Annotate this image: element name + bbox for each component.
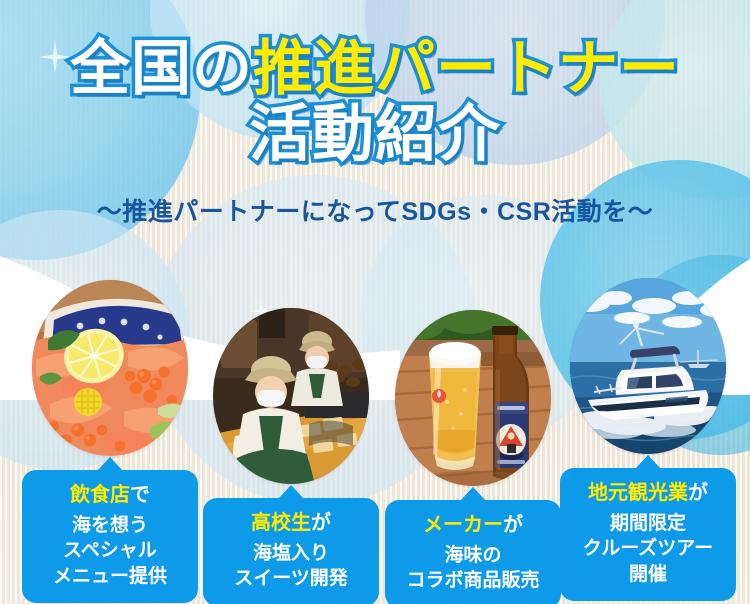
card-2-head-suffix: が	[311, 512, 331, 534]
title-line-1-white: 全国の	[70, 35, 253, 102]
card-2-head: 高校生が	[209, 510, 373, 536]
subtitle: 〜推進パートナーになってSDGs・CSR活動を〜	[0, 192, 750, 228]
seafood-bowl-photo	[32, 280, 188, 456]
card-4-body-line-2: クルーズツアー	[566, 536, 730, 561]
card-2-caption: 高校生が 海塩入り スイーツ開発	[203, 498, 379, 604]
card-4-head-suffix: が	[688, 482, 708, 504]
card-1-body-line-1: 海を想う	[28, 513, 192, 538]
title-line-1-yellow: 推進パートナー	[253, 35, 680, 102]
title-line-2: 活動紹介	[0, 103, 750, 166]
headline-group: 全国の推進パートナー 活動紹介	[0, 0, 750, 166]
card-2-body-line-2: スイーツ開発	[209, 566, 373, 591]
card-4-caption: 地元観光業が 期間限定 クルーズツアー 開催	[560, 468, 736, 601]
card-2-head-highlight: 高校生	[251, 512, 311, 534]
card-2-body-line-1: 海塩入り	[209, 541, 373, 566]
card-2[interactable]: 高校生が 海塩入り スイーツ開発	[203, 308, 379, 604]
card-1[interactable]: 飲食店で 海を想う スペシャル メニュー提供	[22, 280, 198, 603]
card-3[interactable]: メーカーが 海味の コラボ商品販売	[385, 310, 561, 604]
card-4-body: 期間限定 クルーズツアー 開催	[566, 511, 730, 586]
card-3-head-highlight: メーカー	[423, 514, 503, 536]
card-3-body-line-2: コラボ商品販売	[391, 568, 555, 593]
card-1-caption: 飲食店で 海を想う スペシャル メニュー提供	[22, 470, 198, 603]
card-1-body-line-2: スペシャル	[28, 538, 192, 563]
title-line-2-white: 活動紹介	[249, 100, 501, 169]
card-1-head: 飲食店で	[28, 482, 192, 508]
card-3-body: 海味の コラボ商品販売	[391, 543, 555, 593]
card-1-body: 海を想う スペシャル メニュー提供	[28, 513, 192, 588]
card-3-caption: メーカーが 海味の コラボ商品販売	[385, 500, 561, 604]
cruiser-boat-photo	[570, 278, 726, 454]
card-2-body: 海塩入り スイーツ開発	[209, 541, 373, 591]
card-3-head-suffix: が	[503, 514, 523, 536]
promotional-banner: 全国の推進パートナー 活動紹介 〜推進パートナーになってSDGs・CSR活動を〜	[0, 0, 750, 604]
card-3-body-line-1: 海味の	[391, 543, 555, 568]
cards-row: 飲食店で 海を想う スペシャル メニュー提供	[0, 278, 750, 604]
card-4-body-line-3: 開催	[566, 562, 730, 587]
card-4-head-highlight: 地元観光業	[588, 482, 688, 504]
high-school-students-photo	[213, 308, 369, 484]
card-1-body-line-3: メニュー提供	[28, 564, 192, 589]
card-4-body-line-1: 期間限定	[566, 511, 730, 536]
card-1-head-highlight: 飲食店	[70, 484, 130, 506]
card-4-head: 地元観光業が	[566, 480, 730, 506]
card-4[interactable]: 地元観光業が 期間限定 クルーズツアー 開催	[560, 278, 736, 601]
beer-bottle-photo	[395, 310, 551, 486]
card-1-head-suffix: で	[130, 484, 150, 506]
title-line-1: 全国の推進パートナー	[0, 38, 750, 99]
card-3-head: メーカーが	[391, 512, 555, 538]
